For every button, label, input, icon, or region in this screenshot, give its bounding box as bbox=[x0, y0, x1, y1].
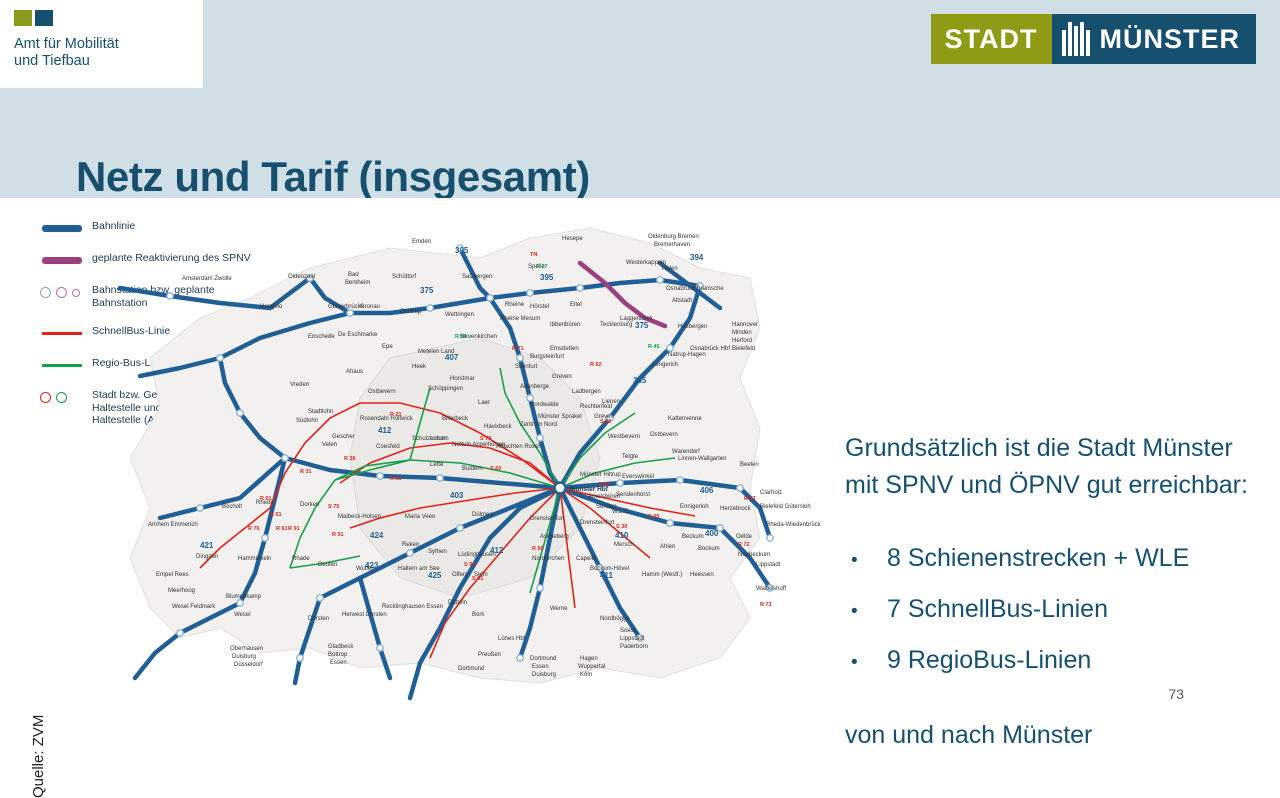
text-column: Grundsätzlich ist die Stadt Münster mit … bbox=[845, 430, 1265, 750]
svg-text:Havixbeck: Havixbeck bbox=[484, 424, 513, 430]
svg-text:Westbevern: Westbevern bbox=[608, 434, 640, 440]
svg-text:S 90: S 90 bbox=[464, 562, 475, 568]
svg-text:S 70: S 70 bbox=[480, 436, 491, 442]
svg-text:R 31: R 31 bbox=[300, 469, 312, 475]
svg-text:Arnhem Emmerich: Arnhem Emmerich bbox=[148, 522, 198, 528]
svg-text:Bad: Bad bbox=[348, 272, 359, 278]
svg-text:Oberhausen: Oberhausen bbox=[230, 646, 263, 652]
svg-text:Gronau: Gronau bbox=[360, 304, 380, 310]
svg-text:Telgte: Telgte bbox=[622, 454, 639, 460]
bullet-item: • 9 RegioBus-Linien bbox=[845, 636, 1265, 687]
slide: Amt für Mobilität und Tiefbau STADT MÜNS… bbox=[0, 0, 1280, 718]
svg-text:Burgsteinfurt: Burgsteinfurt bbox=[530, 354, 564, 360]
svg-text:Soest: Soest bbox=[620, 628, 636, 634]
svg-text:S 35: S 35 bbox=[648, 514, 659, 520]
svg-text:TN: TN bbox=[530, 252, 537, 258]
svg-text:Bentheim: Bentheim bbox=[345, 280, 370, 286]
svg-text:Ladbergen: Ladbergen bbox=[572, 389, 601, 395]
svg-text:Lienen: Lienen bbox=[602, 399, 620, 405]
svg-text:Clarholz: Clarholz bbox=[760, 490, 782, 496]
svg-text:Lippstadt: Lippstadt bbox=[620, 636, 645, 642]
bullet-marker: • bbox=[845, 537, 887, 585]
svg-text:Ibbenbüren: Ibbenbüren bbox=[550, 322, 580, 328]
svg-text:Heessen: Heessen bbox=[690, 572, 714, 578]
svg-text:Warendorf: Warendorf bbox=[672, 449, 700, 455]
svg-text:Velen: Velen bbox=[322, 442, 337, 448]
svg-text:R 36: R 36 bbox=[344, 456, 356, 462]
svg-text:Blumenkamp: Blumenkamp bbox=[226, 594, 262, 600]
svg-text:Heek: Heek bbox=[412, 364, 427, 370]
svg-text:Münster Hiltrup: Münster Hiltrup bbox=[580, 472, 621, 478]
svg-text:Dortmund: Dortmund bbox=[458, 666, 484, 672]
bullet-marker: • bbox=[845, 588, 887, 636]
svg-text:410: 410 bbox=[615, 531, 629, 540]
svg-text:R 61: R 61 bbox=[260, 496, 272, 502]
bullet-marker: • bbox=[845, 639, 887, 687]
svg-text:Bockum: Bockum bbox=[698, 546, 720, 552]
svg-text:Ennigerloh: Ennigerloh bbox=[680, 504, 709, 510]
svg-text:Empel Rees: Empel Rees bbox=[156, 572, 189, 578]
svg-text:R 73: R 73 bbox=[760, 602, 772, 608]
svg-text:Capelle: Capelle bbox=[576, 556, 597, 562]
svg-text:Waltershoff: Waltershoff bbox=[756, 586, 786, 592]
svg-text:Preußen: Preußen bbox=[478, 652, 501, 658]
svg-text:Vreden: Vreden bbox=[290, 382, 309, 388]
svg-text:R 61: R 61 bbox=[276, 526, 288, 532]
svg-text:R 61: R 61 bbox=[390, 476, 402, 482]
svg-text:Essen: Essen bbox=[532, 664, 549, 670]
svg-text:Lüdinghausen: Lüdinghausen bbox=[458, 552, 496, 558]
svg-text:Horstmar: Horstmar bbox=[450, 376, 475, 382]
svg-text:Buldern: Buldern bbox=[462, 466, 483, 472]
svg-text:Ascheberg: Ascheberg bbox=[540, 534, 569, 540]
svg-text:R 51: R 51 bbox=[332, 532, 344, 538]
svg-text:Schüttorf: Schüttorf bbox=[392, 274, 416, 280]
svg-text:424: 424 bbox=[370, 531, 384, 540]
svg-text:Hamm (Westf.): Hamm (Westf.) bbox=[642, 572, 682, 578]
svg-text:R 21: R 21 bbox=[390, 412, 402, 418]
svg-text:Sendenhorst: Sendenhorst bbox=[616, 492, 650, 498]
department-logo: Amt für Mobilität und Tiefbau bbox=[0, 0, 203, 88]
svg-text:Maria Veen: Maria Veen bbox=[405, 514, 435, 520]
svg-text:Hamminkeln: Hamminkeln bbox=[238, 556, 271, 562]
svg-text:Düsseldorf: Düsseldorf bbox=[234, 662, 263, 668]
svg-text:Tecklenburg: Tecklenburg bbox=[600, 322, 632, 328]
svg-text:R 71: R 71 bbox=[512, 346, 524, 352]
svg-text:Ostbevern: Ostbevern bbox=[650, 432, 678, 438]
svg-text:S 91: S 91 bbox=[472, 576, 483, 582]
svg-text:Meerhoog: Meerhoog bbox=[168, 588, 195, 594]
svg-text:Steinfurt: Steinfurt bbox=[515, 364, 538, 370]
svg-text:Rheda-Wiedenbrück: Rheda-Wiedenbrück bbox=[766, 522, 822, 528]
closing-paragraph: von und nach Münster bbox=[845, 721, 1265, 750]
svg-text:Bork: Bork bbox=[472, 612, 485, 618]
logo-marks bbox=[14, 10, 203, 26]
svg-text:De Eschmarke: De Eschmarke bbox=[338, 332, 378, 338]
svg-text:Beelen: Beelen bbox=[740, 462, 759, 468]
svg-text:Drensteinfurt: Drensteinfurt bbox=[530, 516, 565, 522]
svg-text:Minden: Minden bbox=[732, 330, 752, 336]
svg-text:406: 406 bbox=[700, 486, 714, 495]
svg-text:R 72: R 72 bbox=[738, 542, 750, 548]
svg-text:Osnabrück Bramsche: Osnabrück Bramsche bbox=[666, 286, 724, 292]
svg-text:Lippstadt: Lippstadt bbox=[756, 562, 781, 568]
svg-text:S 29: S 29 bbox=[598, 482, 609, 488]
svg-text:S 75: S 75 bbox=[328, 504, 339, 510]
svg-text:Mersch: Mersch bbox=[614, 542, 634, 548]
svg-text:Ahlen: Ahlen bbox=[660, 544, 675, 550]
svg-text:Enschede: Enschede bbox=[308, 334, 335, 340]
svg-text:Gladbeck: Gladbeck bbox=[328, 644, 354, 650]
svg-text:375: 375 bbox=[635, 321, 649, 330]
svg-text:Paderborn: Paderborn bbox=[620, 644, 648, 650]
svg-text:395: 395 bbox=[455, 246, 469, 255]
svg-text:375: 375 bbox=[420, 286, 434, 295]
svg-text:R 91: R 91 bbox=[288, 526, 300, 532]
svg-text:Dorken: Dorken bbox=[300, 502, 319, 508]
svg-text:Emden: Emden bbox=[412, 239, 431, 245]
svg-text:Dingden: Dingden bbox=[196, 554, 218, 560]
svg-text:Oldenzaal: Oldenzaal bbox=[288, 274, 315, 280]
svg-text:Ostbevern: Ostbevern bbox=[368, 389, 396, 395]
svg-text:Wettringen: Wettringen bbox=[445, 312, 474, 318]
brand-right: MÜNSTER bbox=[1052, 14, 1257, 64]
page-title: Netz und Tarif (insgesamt) bbox=[76, 153, 590, 201]
svg-text:Gescher: Gescher bbox=[332, 434, 355, 440]
svg-text:Beckum: Beckum bbox=[682, 534, 704, 540]
svg-text:Duisburg: Duisburg bbox=[232, 654, 256, 660]
svg-text:Kattenvenne: Kattenvenne bbox=[668, 416, 702, 422]
svg-text:Eitel: Eitel bbox=[570, 302, 582, 308]
bullet-item: • 8 Schienenstrecken + WLE bbox=[845, 534, 1265, 585]
source-label: Quelle: ZVM bbox=[30, 715, 47, 798]
svg-text:Schöppingen: Schöppingen bbox=[428, 386, 463, 392]
svg-text:Westerkappeln: Westerkappeln bbox=[626, 260, 666, 266]
page-number: 73 bbox=[1168, 686, 1184, 702]
svg-text:Everswinkel: Everswinkel bbox=[622, 474, 654, 480]
svg-text:Nordbögge: Nordbögge bbox=[600, 616, 630, 622]
svg-text:Münster Sprakel: Münster Sprakel bbox=[538, 414, 582, 420]
svg-text:Datteln: Datteln bbox=[448, 600, 467, 606]
department-name: Amt für Mobilität und Tiefbau bbox=[14, 36, 203, 70]
bullet-item: • 7 SchnellBus-Linien bbox=[845, 585, 1265, 636]
bullet-label: 9 RegioBus-Linien bbox=[887, 636, 1091, 684]
svg-text:Südlohn: Südlohn bbox=[296, 418, 318, 424]
svg-text:Ahaus: Ahaus bbox=[346, 369, 363, 375]
svg-text:Wesel Feldmark: Wesel Feldmark bbox=[172, 604, 216, 610]
svg-text:Werne: Werne bbox=[550, 606, 568, 612]
svg-text:R 63: R 63 bbox=[744, 496, 756, 502]
svg-text:Stadtlohn: Stadtlohn bbox=[308, 409, 333, 415]
brand-left-label: STADT bbox=[945, 24, 1038, 55]
svg-text:385: 385 bbox=[633, 376, 647, 385]
svg-text:Bielefeld Gütersloh: Bielefeld Gütersloh bbox=[760, 504, 811, 510]
svg-text:Reken: Reken bbox=[402, 542, 419, 548]
svg-text:Deuten: Deuten bbox=[318, 562, 337, 568]
svg-text:Wuppertal: Wuppertal bbox=[578, 664, 605, 670]
svg-text:Linnen-Wallgarten: Linnen-Wallgarten bbox=[678, 456, 726, 462]
tower-icon bbox=[1062, 22, 1090, 56]
department-name-line1: Amt für Mobilität bbox=[14, 36, 203, 53]
brand-left: STADT bbox=[931, 14, 1052, 64]
svg-text:R 45: R 45 bbox=[648, 344, 660, 350]
svg-text:R 50: R 50 bbox=[532, 546, 544, 552]
svg-text:Rheine Mesum: Rheine Mesum bbox=[500, 316, 540, 322]
svg-text:421: 421 bbox=[200, 541, 214, 550]
svg-text:Duisburg: Duisburg bbox=[532, 672, 556, 678]
svg-text:411: 411 bbox=[600, 571, 613, 580]
svg-text:425: 425 bbox=[428, 571, 442, 580]
svg-text:394: 394 bbox=[690, 253, 704, 262]
bullet-list: • 8 Schienenstrecken + WLE • 7 SchnellBu… bbox=[845, 534, 1265, 687]
svg-text:395: 395 bbox=[540, 273, 554, 282]
svg-text:S 50: S 50 bbox=[600, 419, 611, 425]
svg-text:Nordkirchen: Nordkirchen bbox=[532, 556, 564, 562]
svg-text:Dorsten: Dorsten bbox=[308, 616, 329, 622]
logo-mark-blue bbox=[35, 10, 53, 26]
svg-text:Lette: Lette bbox=[430, 462, 444, 468]
svg-text:R 51: R 51 bbox=[270, 512, 282, 518]
slide-body: Quelle: ZVM Bahnlinie geplante Reaktivie… bbox=[0, 198, 1280, 718]
svg-text:Emsdetten: Emsdetten bbox=[550, 346, 579, 352]
svg-text:Bocholt: Bocholt bbox=[222, 504, 242, 510]
svg-text:Recklinghausen Essen: Recklinghausen Essen bbox=[382, 604, 443, 610]
svg-text:Epe: Epe bbox=[382, 344, 393, 350]
network-map-svg: .lbl { font-family: "Liberation Sans", s… bbox=[60, 208, 840, 708]
svg-text:Oelde: Oelde bbox=[736, 534, 753, 540]
svg-text:403: 403 bbox=[450, 491, 464, 500]
svg-text:Coesfeld: Coesfeld bbox=[376, 444, 400, 450]
svg-text:400: 400 bbox=[705, 529, 719, 538]
svg-text:Amsterdam Zwolle: Amsterdam Zwolle bbox=[182, 276, 232, 282]
svg-text:Rosendahl Holtwick: Rosendahl Holtwick bbox=[360, 416, 414, 422]
svg-text:Albachten Roxel: Albachten Roxel bbox=[496, 444, 540, 450]
svg-text:Dortmund: Dortmund bbox=[530, 656, 556, 662]
svg-text:Oldenburg Bremen: Oldenburg Bremen bbox=[648, 234, 699, 240]
svg-text:S 30: S 30 bbox=[616, 524, 627, 530]
bullet-label: 7 SchnellBus-Linien bbox=[887, 585, 1108, 633]
svg-text:Hasbergen: Hasbergen bbox=[678, 324, 707, 330]
svg-text:Haltern am See: Haltern am See bbox=[398, 566, 440, 572]
svg-text:Hörstel: Hörstel bbox=[530, 304, 549, 310]
svg-text:Drensteinfurt: Drensteinfurt bbox=[580, 520, 615, 526]
svg-text:Herwest Dorsten: Herwest Dorsten bbox=[342, 612, 387, 618]
svg-text:Metelen Land: Metelen Land bbox=[418, 349, 454, 355]
svg-text:Hesepe: Hesepe bbox=[562, 236, 583, 242]
svg-text:Bottrop: Bottrop bbox=[328, 652, 348, 658]
svg-text:R 27: R 27 bbox=[536, 264, 548, 270]
svg-text:Bockum-Hövel: Bockum-Hövel bbox=[590, 566, 629, 572]
svg-text:Greven: Greven bbox=[552, 374, 572, 380]
svg-text:Maibeck-Holsen: Maibeck-Holsen bbox=[338, 514, 381, 520]
svg-text:Altenberge: Altenberge bbox=[520, 384, 550, 390]
svg-text:Neubeckum: Neubeckum bbox=[738, 552, 770, 558]
svg-text:Hagen: Hagen bbox=[580, 656, 598, 662]
department-name-line2: und Tiefbau bbox=[14, 53, 203, 70]
svg-text:Rhade: Rhade bbox=[292, 556, 310, 562]
svg-text:Laer: Laer bbox=[478, 400, 490, 406]
svg-text:Natrup-Hagen: Natrup-Hagen bbox=[668, 352, 706, 358]
svg-text:412: 412 bbox=[378, 426, 392, 435]
svg-text:Nordwalde: Nordwalde bbox=[530, 402, 559, 408]
svg-text:Sythen: Sythen bbox=[428, 549, 447, 555]
svg-text:Essen: Essen bbox=[330, 660, 347, 666]
svg-text:S 60: S 60 bbox=[490, 466, 501, 472]
svg-text:Dülmen: Dülmen bbox=[472, 512, 493, 518]
brand-right-label: MÜNSTER bbox=[1100, 24, 1241, 55]
svg-text:Lengerich: Lengerich bbox=[652, 362, 678, 368]
svg-text:Ochtrup: Ochtrup bbox=[400, 309, 422, 315]
svg-text:Herford: Herford bbox=[732, 338, 752, 344]
svg-text:Schulzentrum: Schulzentrum bbox=[412, 436, 449, 442]
bullet-label: 8 Schienenstrecken + WLE bbox=[887, 534, 1189, 582]
svg-text:Bielefeld: Bielefeld bbox=[732, 346, 755, 352]
svg-text:Zentrum Nord: Zentrum Nord bbox=[520, 422, 557, 428]
svg-text:Wulfen: Wulfen bbox=[356, 566, 375, 572]
svg-text:Herzebrock: Herzebrock bbox=[720, 506, 752, 512]
svg-text:Lünes Hbf: Lünes Hbf bbox=[498, 636, 526, 642]
svg-text:R 80: R 80 bbox=[455, 334, 467, 340]
header-band: Amt für Mobilität und Tiefbau STADT MÜNS… bbox=[0, 0, 1280, 88]
svg-text:Halen: Halen bbox=[662, 266, 678, 272]
svg-text:Salzbergen: Salzbergen bbox=[462, 274, 492, 280]
stadt-muenster-logo: STADT MÜNSTER bbox=[931, 14, 1257, 64]
svg-text:W.L.E.: W.L.E. bbox=[612, 509, 630, 515]
svg-text:Bremerhaven: Bremerhaven bbox=[654, 242, 690, 248]
svg-text:Altstadt: Altstadt bbox=[672, 298, 692, 304]
svg-text:R 62: R 62 bbox=[590, 362, 602, 368]
logo-mark-green bbox=[14, 10, 32, 26]
svg-text:Köln: Köln bbox=[580, 672, 592, 678]
svg-text:Rheine: Rheine bbox=[505, 302, 525, 308]
svg-text:Billerbeck: Billerbeck bbox=[442, 416, 469, 422]
svg-text:Wesel: Wesel bbox=[234, 612, 251, 618]
network-map: .lbl { font-family: "Liberation Sans", s… bbox=[60, 208, 840, 708]
lead-paragraph: Grundsätzlich ist die Stadt Münster mit … bbox=[845, 430, 1265, 504]
svg-text:R 76: R 76 bbox=[248, 526, 260, 532]
svg-text:Hannover: Hannover bbox=[732, 322, 758, 328]
svg-text:Hengelo: Hengelo bbox=[260, 304, 283, 310]
svg-text:Olfen: Olfen bbox=[452, 572, 466, 578]
